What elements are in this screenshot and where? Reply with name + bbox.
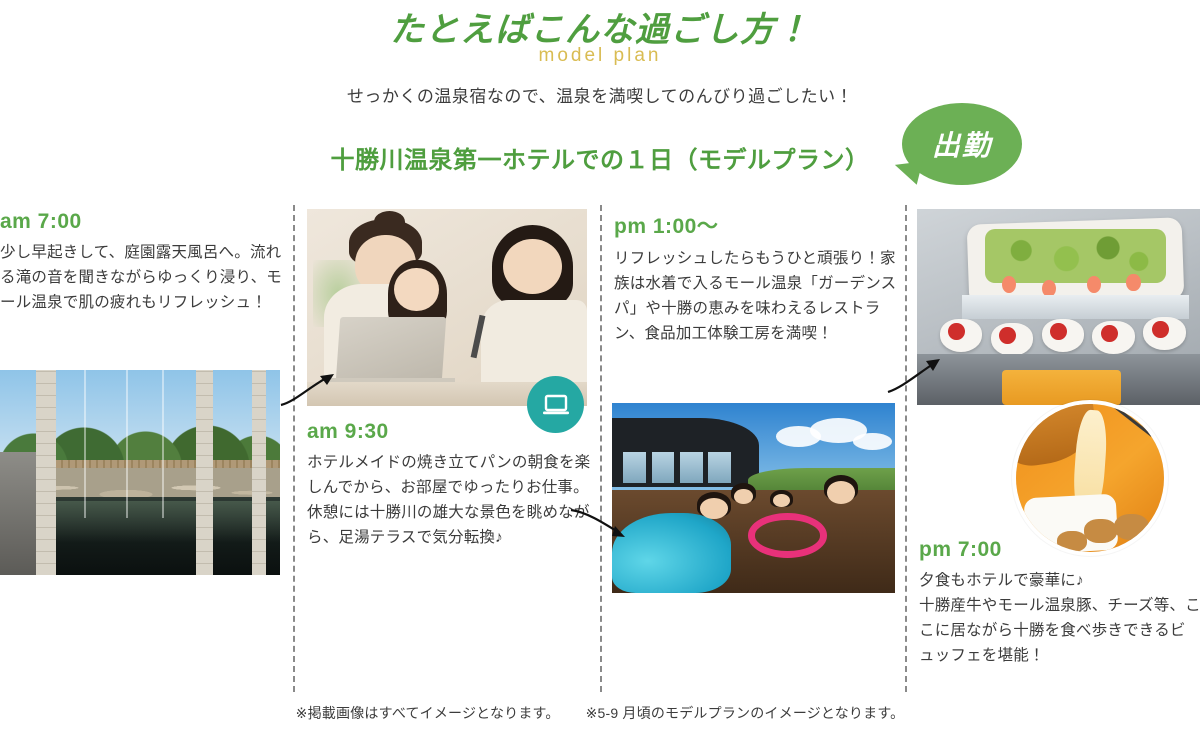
description-3: リフレッシュしたらもうひと頑張り！家族は水着で入るモール温泉「ガーデンスパ」や十… <box>614 246 904 346</box>
page-subtitle: model plan <box>0 45 1200 67</box>
column-divider-1 <box>293 205 295 692</box>
time-label-4: pm 7:00 <box>919 538 1200 562</box>
laptop-icon <box>540 389 572 421</box>
footer-note-1: ※掲載画像はすべてイメージとなります。 <box>296 705 560 721</box>
timeline-column-3: pm 1:00〜 リフレッシュしたらもうひと頑張り！家族は水着で入るモール温泉「… <box>614 210 904 346</box>
time-label-2: am 9:30 <box>307 420 597 444</box>
page-title: たとえばこんな過ごし方！ <box>0 2 1200 51</box>
footer-note-2: ※5-9 月頃のモデルプランのイメージとなります。 <box>586 705 905 721</box>
description-4: 夕食もホテルで豪華に♪ 十勝産牛やモール温泉豚、チーズ等、ここに居ながら十勝を食… <box>919 568 1200 668</box>
commute-bubble-label: 出勤 <box>902 103 1022 185</box>
garden-spa-pool-photo <box>612 403 895 593</box>
description-2: ホテルメイドの焼き立てパンの朝食を楽しんでから、お部屋でゆったりお仕事。 休憩に… <box>307 450 597 550</box>
column-divider-3 <box>905 205 907 692</box>
timeline-column-1: am 7:00 少し早起きして、庭園露天風呂へ。流れる滝の音を聞きながらゆっくり… <box>0 210 285 315</box>
description-1: 少し早起きして、庭園露天風呂へ。流れる滝の音を聞きながらゆっくり浸り、モール温泉… <box>0 240 285 315</box>
footer-notes: ※掲載画像はすべてイメージとなります。※5-9 月頃のモデルプランのイメージとな… <box>0 703 1200 723</box>
raclette-cheese-photo <box>1012 400 1168 556</box>
flow-arrow-2 <box>568 496 634 554</box>
timeline-column-2: am 9:30 ホテルメイドの焼き立てパンの朝食を楽しんでから、お部屋でゆったり… <box>307 420 597 550</box>
flow-arrow-1 <box>278 358 340 412</box>
column-divider-2 <box>600 205 602 692</box>
buffet-dishes-photo <box>917 209 1200 405</box>
model-plan-infographic: たとえばこんな過ごし方！ model plan せっかくの温泉宿なので、温泉を満… <box>0 0 1200 735</box>
garden-open-air-bath-photo <box>0 370 280 575</box>
time-label-1: am 7:00 <box>0 210 285 234</box>
time-label-3: pm 1:00〜 <box>614 210 904 240</box>
flow-arrow-3 <box>885 344 953 402</box>
timeline-column-4: pm 7:00 夕食もホテルで豪華に♪ 十勝産牛やモール温泉豚、チーズ等、ここに… <box>919 538 1200 668</box>
family-working-laptop-photo <box>307 209 587 406</box>
